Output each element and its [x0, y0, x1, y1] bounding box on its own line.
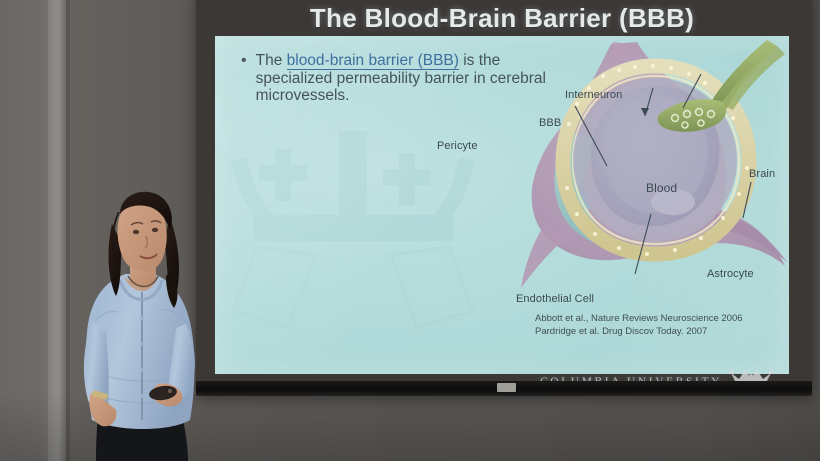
bullet-marker-icon: •: [241, 52, 247, 69]
bullet-text-before: The: [256, 52, 287, 69]
citation-line-1: Abbott et al., Nature Reviews Neuroscien…: [535, 313, 743, 326]
diagram-label-astrocyte: Astrocyte: [707, 268, 754, 280]
diagram-label-endothelial-cell: Endothelial Cell: [516, 293, 594, 305]
citation-line-2: Pardridge et al. Drug Discov Today. 2007: [535, 326, 743, 339]
diagram-label-brain: Brain: [749, 168, 775, 180]
slide-title: The Blood-Brain Barrier (BBB): [216, 2, 788, 34]
slide-citations: Abbott et al., Nature Reviews Neuroscien…: [535, 313, 743, 338]
screenshot-stage: The Blood-Brain Barrier (BBB): [0, 0, 820, 461]
diagram-label-bbb: BBB: [539, 117, 561, 129]
slide-content-area: • The blood-brain barrier (BBB) is the s…: [215, 36, 789, 374]
presenter-figure: [62, 188, 242, 461]
crown-watermark-icon: [223, 131, 483, 346]
bullet-highlighted-term: blood-brain barrier (BBB): [287, 52, 459, 70]
screen-pull-tab: [497, 383, 516, 392]
diagram-label-pericyte: Pericyte: [437, 140, 478, 152]
diagram-label-interneuron: Interneuron: [565, 89, 622, 101]
diagram-label-blood: Blood: [646, 181, 677, 195]
